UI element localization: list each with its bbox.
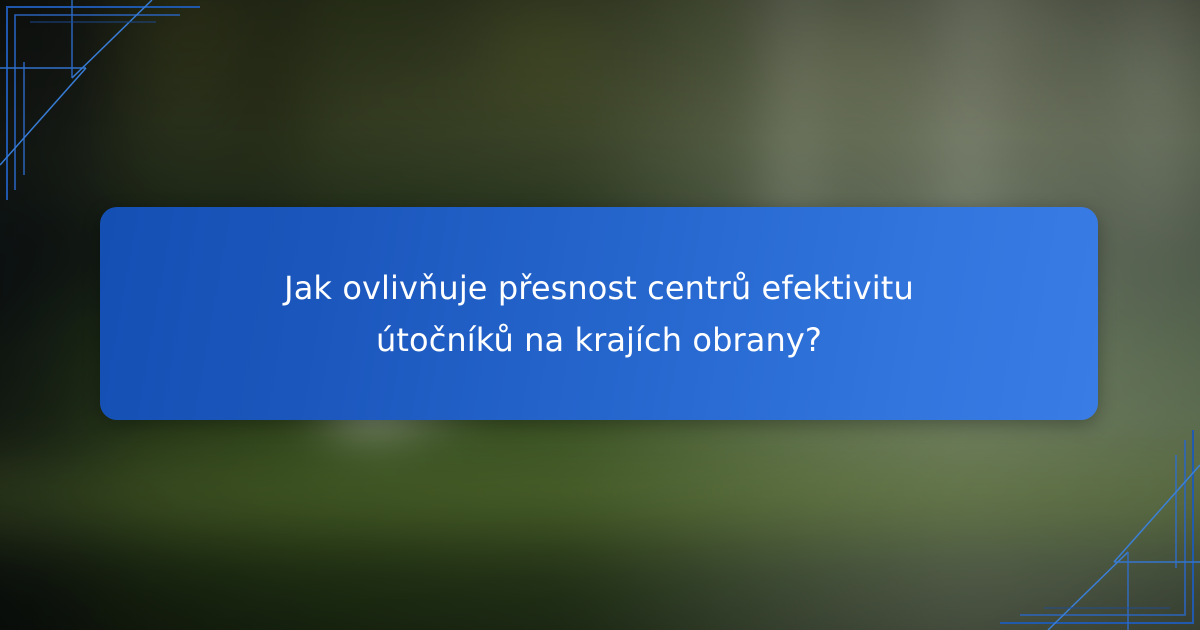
question-card: Jak ovlivňuje přesnost centrů efektivitu… <box>100 207 1098 420</box>
share-card-canvas: Jak ovlivňuje přesnost centrů efektivitu… <box>0 0 1200 630</box>
question-text: Jak ovlivňuje přesnost centrů efektivitu… <box>215 262 983 366</box>
background-grass-stripe <box>0 442 1200 569</box>
